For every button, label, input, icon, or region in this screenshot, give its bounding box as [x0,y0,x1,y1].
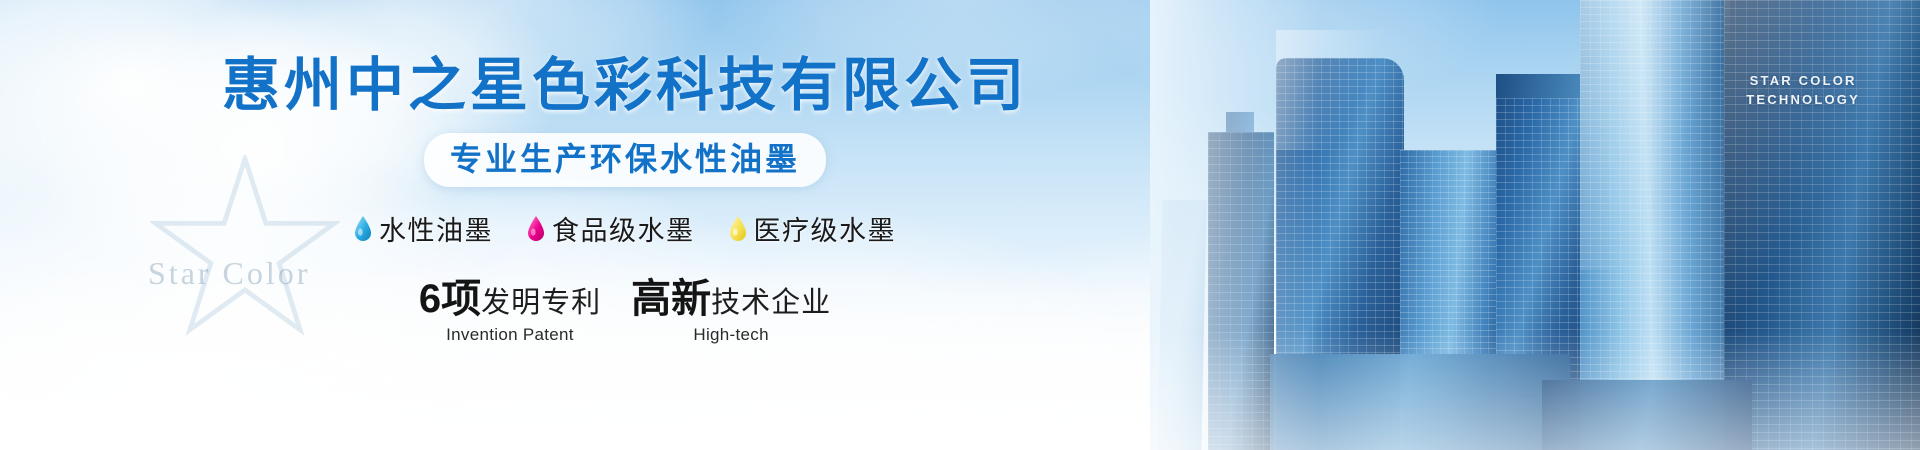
feature-label: 水性油墨 [379,209,493,248]
feature-label: 食品级水墨 [552,209,695,248]
water-drop-icon [354,216,372,241]
credential-badge-en: Invention Patent [419,325,601,345]
brand-mark: STAR COLOR TECHNOLOGY [1746,72,1860,110]
brand-mark-line2: TECHNOLOGY [1746,91,1860,110]
feature-item: 医疗级水墨 [729,209,897,248]
credential-badge-cn: 6项发明专利 [419,278,601,320]
feature-label: 医疗级水墨 [754,209,897,248]
city-skyline-illustration [1150,0,1920,450]
credential-badge: 高新技术企业 High-tech [631,278,831,345]
building-podium-right [1542,380,1752,450]
brand-mark-line1: STAR COLOR [1746,72,1860,91]
credential-badge-list: 6项发明专利 Invention Patent 高新技术企业 High-tech [419,278,831,345]
company-hero-banner: Star Color STAR COLOR TECHNOLOGY 惠州中之星色彩… [0,0,1920,450]
credential-badge-rest: 技术企业 [711,287,831,319]
feature-item: 食品级水墨 [527,209,695,248]
credential-badge-highlight: 6项 [419,277,481,321]
subtitle-pill: 专业生产环保水性油墨 [424,133,826,187]
product-feature-list: 水性油墨 食品级水墨 [354,209,896,248]
feature-item: 水性油墨 [354,209,493,248]
building-right-dark-tower [1724,0,1920,450]
credential-badge: 6项发明专利 Invention Patent [419,278,601,345]
credential-badge-rest: 发明专利 [481,287,601,319]
building-stepped-block-cap [1496,74,1592,98]
water-drop-icon [527,216,545,241]
building-main-tower-crown [1276,32,1404,58]
credential-badge-cn: 高新技术企业 [631,278,831,320]
credential-badge-en: High-tech [631,325,831,345]
banner-content: 惠州中之星色彩科技有限公司 专业生产环保水性油墨 水性油墨 [0,0,1250,450]
company-name-headline: 惠州中之星色彩科技有限公司 [222,56,1028,117]
water-drop-icon [729,216,747,241]
credential-badge-highlight: 高新 [631,277,711,321]
building-podium-left [1270,354,1570,450]
subtitle-text: 专业生产环保水性油墨 [450,140,800,178]
